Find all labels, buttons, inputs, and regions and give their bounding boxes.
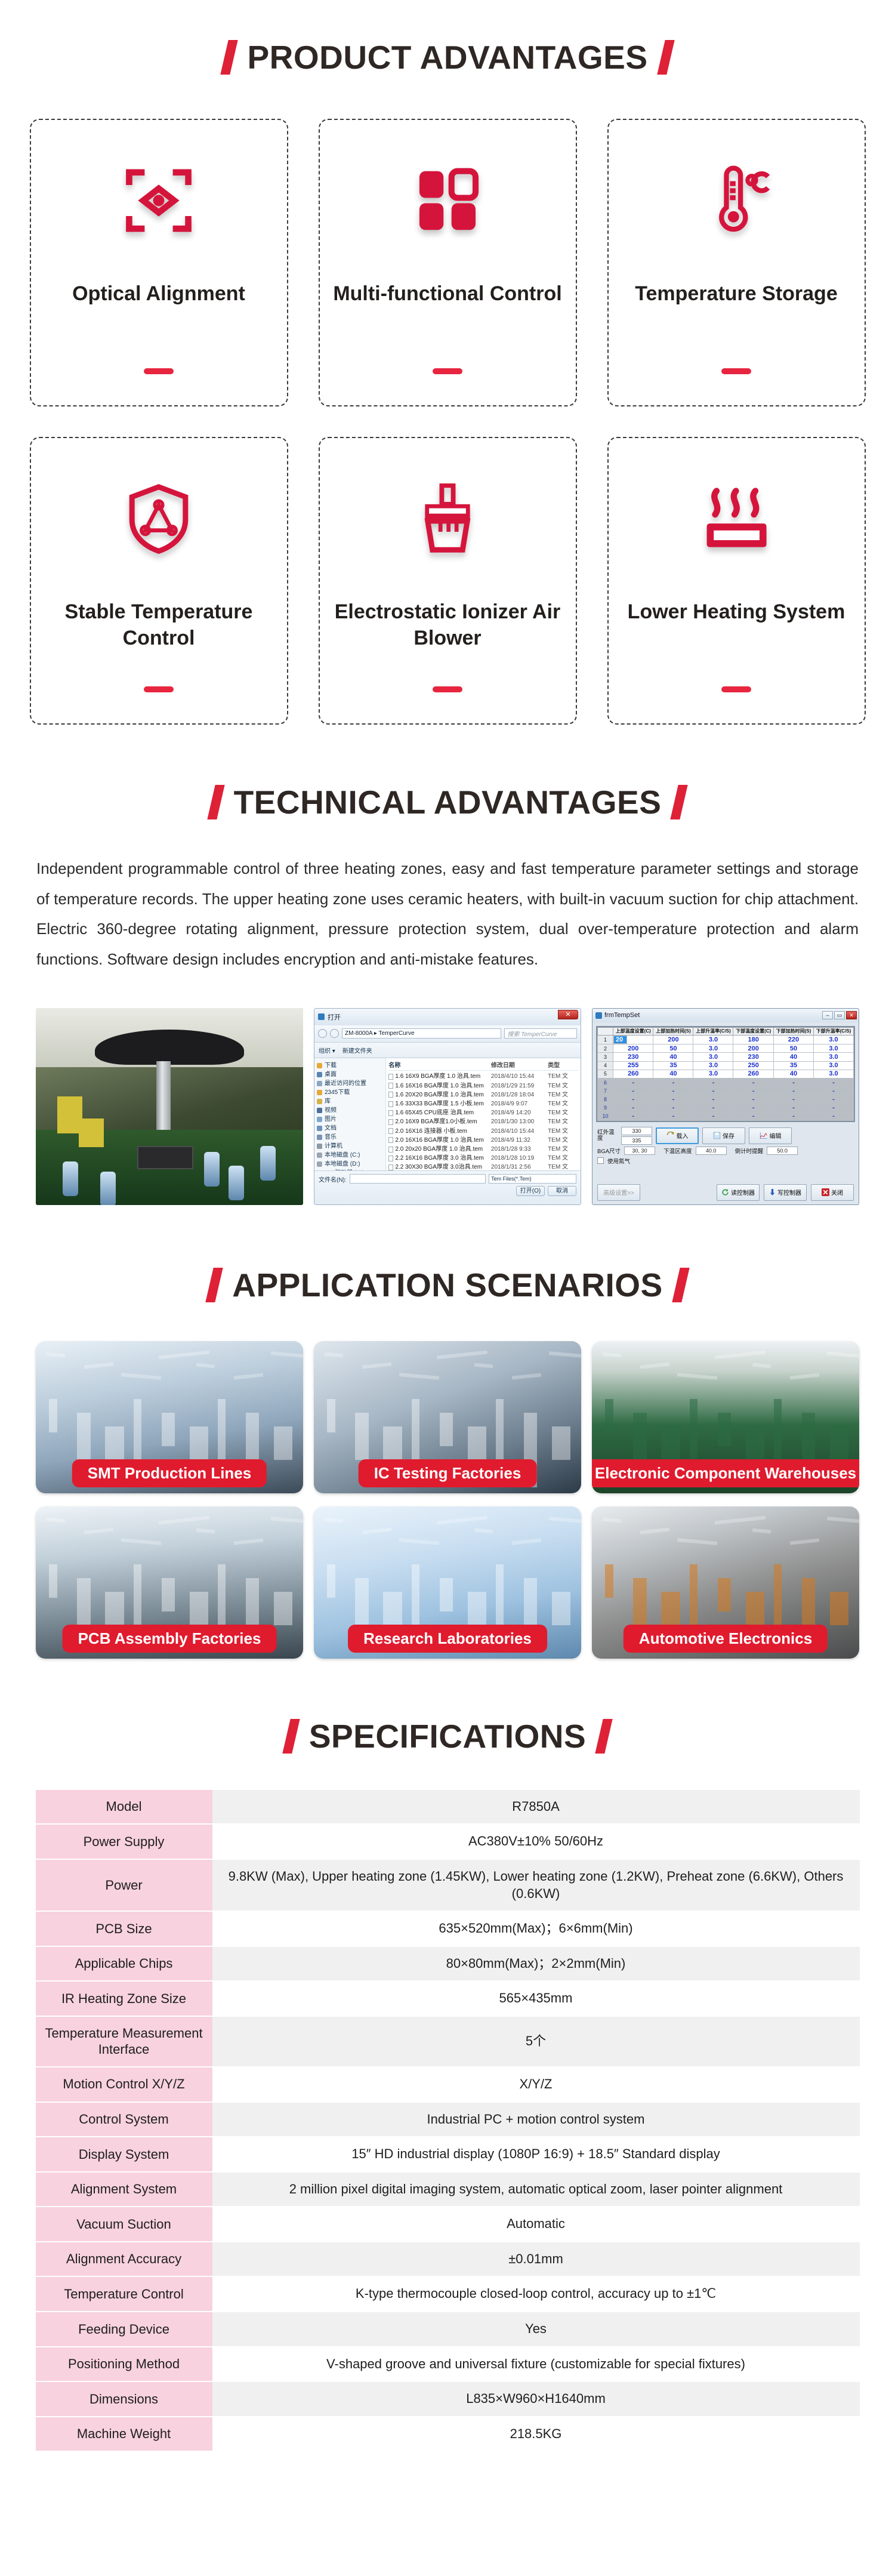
sidebar-item-label: 最近访问的位置 — [325, 1079, 366, 1088]
photo-detail — [84, 1527, 113, 1534]
optical-alignment-icon — [31, 120, 287, 281]
sidebar-item[interactable]: 计算机 — [317, 1142, 383, 1151]
spec-label: Power — [36, 1860, 212, 1911]
photo-detail — [271, 1351, 303, 1358]
photo-detail — [511, 1538, 541, 1545]
photo-detail — [774, 1564, 782, 1625]
file-type: TEM 文 — [548, 1145, 578, 1154]
spec-label: Model — [36, 1790, 212, 1824]
temp-cell[interactable]: - — [733, 1079, 773, 1087]
temp-cell[interactable]: 220 — [773, 1036, 813, 1044]
sidebar-item-label: 库 — [325, 1097, 331, 1106]
forward-icon[interactable] — [330, 1029, 339, 1038]
edit-button[interactable]: 编辑 — [749, 1127, 792, 1144]
photo-detail — [362, 1527, 391, 1534]
temp-cell[interactable]: 3.0 — [693, 1070, 733, 1078]
temp-cell[interactable]: - — [813, 1104, 853, 1112]
photo-detail — [827, 1351, 859, 1358]
multi-function-grid-icon — [320, 120, 576, 281]
sidebar-item[interactable]: 桌面 — [317, 1070, 383, 1079]
file-row[interactable]: 2.0 16X9 BGA厚度1.0小板.tem2018/1/30 13:00TE… — [388, 1117, 578, 1126]
temp-cell[interactable]: - — [813, 1095, 853, 1104]
section-title: PRODUCT ADVANTAGES — [247, 38, 647, 76]
temp-table-row[interactable]: 7------ — [598, 1087, 854, 1095]
temp-cell[interactable]: - — [653, 1104, 693, 1112]
spec-value: 9.8KW (Max), Upper heating zone (1.45KW)… — [212, 1860, 860, 1911]
file-date: 2018/4/10 15:44 — [491, 1127, 548, 1136]
sidebar-item[interactable]: 文档 — [317, 1124, 383, 1133]
sidebar-item-label: 文档 — [325, 1124, 337, 1133]
folder-icon — [317, 1144, 322, 1149]
photo-detail — [774, 1399, 782, 1460]
application-scenario-card[interactable]: Research Laboratories — [314, 1506, 581, 1659]
file-date: 2018/1/28 18:04 — [491, 1090, 548, 1099]
row-index: 3 — [598, 1053, 613, 1061]
temp-table-row[interactable]: 9------ — [598, 1104, 854, 1112]
photo-detail — [274, 1426, 292, 1460]
file-icon — [388, 1155, 393, 1161]
photo-detail — [440, 1413, 453, 1446]
temp-cell[interactable]: - — [813, 1079, 853, 1087]
temp-cell[interactable]: 40 — [773, 1053, 813, 1061]
shield-stability-icon — [31, 438, 287, 599]
close-icon[interactable]: ✕ — [558, 1010, 578, 1019]
temp-cell[interactable]: 50 — [653, 1044, 693, 1053]
advantage-card-multi-functional-control[interactable]: Multi-functional Control — [319, 119, 577, 406]
temp-cell[interactable]: - — [653, 1087, 693, 1095]
temp-cell[interactable]: - — [653, 1112, 693, 1120]
sidebar-item[interactable]: 音乐 — [317, 1133, 383, 1142]
spec-value: Automatic — [212, 2207, 860, 2241]
table-row: IR Heating Zone Size565×435mm — [36, 1982, 860, 2016]
window-icon — [318, 1013, 325, 1020]
temp-cell[interactable]: 35 — [653, 1061, 693, 1070]
temp-cell[interactable]: 230 — [733, 1053, 773, 1061]
temp-cell[interactable]: 180 — [733, 1036, 773, 1044]
application-scenario-card[interactable]: Automotive Electronics — [592, 1506, 859, 1659]
application-scenarios-heading: APPLICATION SCENARIOS — [0, 1266, 895, 1304]
temp-cell[interactable]: - — [733, 1087, 773, 1095]
table-row: ModelR7850A — [36, 1790, 860, 1824]
temp-cell[interactable]: - — [773, 1087, 813, 1095]
spec-value: V-shaped groove and universal fixture (c… — [212, 2347, 860, 2381]
spec-label: IR Heating Zone Size — [36, 1982, 212, 2016]
temp-cell[interactable]: - — [653, 1095, 693, 1104]
section-title: APPLICATION SCENARIOS — [232, 1266, 662, 1304]
application-cards-row-2: PCB Assembly FactoriesResearch Laborator… — [0, 1506, 895, 1659]
photo-detail — [552, 1426, 570, 1460]
slash-left-icon — [221, 40, 238, 75]
photo-detail — [830, 1592, 848, 1625]
temp-cell[interactable]: - — [613, 1104, 653, 1112]
spec-label: Machine Weight — [36, 2417, 212, 2451]
nitrogen-checkbox[interactable] — [597, 1157, 604, 1164]
load-arrow-icon — [666, 1132, 675, 1140]
temp-cell[interactable]: 3.0 — [693, 1053, 733, 1061]
photo-detail — [399, 1373, 439, 1380]
temp-column-header[interactable]: 下部加热时间(S) — [773, 1027, 813, 1035]
spec-value: Yes — [212, 2312, 860, 2346]
photo-detail — [271, 1517, 303, 1524]
photo-detail — [362, 1362, 391, 1369]
sidebar-item[interactable]: 本地磁盘 (D:) — [317, 1160, 383, 1169]
section-title: SPECIFICATIONS — [309, 1717, 586, 1755]
spec-label: Temperature Measurement Interface — [36, 2017, 212, 2066]
temperature-profile-table[interactable]: 上部温度设置(C)上部加热时间(S)上部升温率(C/S)下部温度设置(C)下部加… — [597, 1027, 854, 1121]
minimize-icon[interactable]: – — [822, 1011, 833, 1019]
temp-table-row[interactable]: 4255353.0250353.0 — [598, 1061, 854, 1070]
search-input[interactable]: 搜索 TemperCurve — [504, 1028, 577, 1039]
photo-detail — [355, 1413, 368, 1460]
file-date: 2018/1/31 2:56 — [491, 1163, 548, 1170]
temp-table-row[interactable]: 1202003.01802203.0 — [598, 1036, 854, 1044]
sidebar-item-label: 计算机 — [325, 1142, 342, 1151]
temp-cell[interactable]: - — [653, 1079, 693, 1087]
ir-value-1[interactable]: 330 — [621, 1127, 652, 1135]
write-controller-button[interactable]: 写控制器 — [764, 1184, 807, 1201]
application-scenario-card[interactable]: PCB Assembly Factories — [36, 1506, 303, 1659]
temp-cell[interactable]: 3.0 — [813, 1061, 853, 1070]
photo-detail — [196, 1529, 215, 1534]
file-icon — [388, 1083, 393, 1089]
sidebar-item[interactable]: 库 — [317, 1097, 383, 1106]
file-date: 2018/1/28 10:19 — [491, 1154, 548, 1163]
sidebar-item[interactable]: 图片 — [317, 1115, 383, 1124]
temp-cell[interactable]: - — [733, 1104, 773, 1112]
temp-cell[interactable]: 40 — [773, 1070, 813, 1078]
file-type-select[interactable]: Tem Files(*.Tem) — [489, 1174, 576, 1184]
temp-cell[interactable]: - — [613, 1095, 653, 1104]
photo-detail — [549, 1351, 581, 1358]
column-header-type[interactable]: 类型 — [548, 1060, 578, 1069]
temp-cell[interactable]: 3.0 — [693, 1036, 733, 1044]
column-header-name[interactable]: 名称 — [388, 1060, 491, 1069]
file-type: TEM 文 — [548, 1099, 578, 1108]
spec-label: Feeding Device — [36, 2312, 212, 2346]
spec-value: 5个 — [212, 2017, 860, 2066]
dialog-footer: 文件名(N): Tem Files(*.Tem) 打开(O) 取消 — [314, 1171, 581, 1204]
temp-table-row[interactable]: 5260403.0260403.0 — [598, 1070, 854, 1078]
photo-detail — [605, 1564, 613, 1598]
photo-detail — [77, 1578, 90, 1625]
open-button[interactable]: 打开(O) — [516, 1186, 545, 1196]
spec-value: 2 million pixel digital imaging system, … — [212, 2173, 860, 2207]
temp-cell[interactable]: 3.0 — [693, 1061, 733, 1070]
file-type: TEM 文 — [548, 1136, 578, 1145]
row-index: 4 — [598, 1061, 613, 1070]
spec-label: Alignment System — [36, 2173, 212, 2207]
refresh-icon — [721, 1188, 729, 1196]
sidebar-item-label: 视频 — [325, 1106, 337, 1115]
photo-detail — [233, 1373, 263, 1379]
cancel-button[interactable]: 取消 — [548, 1186, 576, 1196]
table-row: Temperature ControlK-type thermocouple c… — [36, 2277, 860, 2311]
photo-detail — [218, 1564, 226, 1625]
spec-label: Display System — [36, 2137, 212, 2171]
new-folder-button[interactable]: 新建文件夹 — [342, 1046, 372, 1055]
advantage-card-temperature-storage[interactable]: Temperature Storage — [607, 119, 866, 406]
temp-cell[interactable]: 50 — [773, 1044, 813, 1053]
advantage-card-underline — [433, 686, 462, 692]
photo-detail — [121, 1538, 161, 1545]
table-row: Motion Control X/Y/ZX/Y/Z — [36, 2067, 860, 2102]
sidebar-item[interactable]: 下载 — [317, 1061, 383, 1070]
photo-detail — [399, 1538, 439, 1545]
photo-detail — [84, 1362, 113, 1369]
temp-cell[interactable]: 3.0 — [813, 1053, 853, 1061]
file-name: 2.0 20x20 BGA厚度 1.0 治具.tem — [388, 1145, 491, 1154]
photo-detail — [605, 1399, 613, 1432]
temp-cell[interactable]: 255 — [613, 1061, 653, 1070]
ionizer-blower-icon — [320, 438, 576, 599]
temp-cell[interactable]: - — [693, 1087, 733, 1095]
file-row[interactable]: 2.0 16X16 连接器 小板.tem2018/4/10 15:44TEM 文 — [388, 1127, 578, 1136]
temp-cell[interactable]: - — [733, 1095, 773, 1104]
temp-table-row[interactable]: 8------ — [598, 1095, 854, 1104]
folder-icon — [317, 1126, 322, 1131]
file-row[interactable]: 2.0 16X16 BGA厚度 1.0 治具.tem2018/4/9 11:32… — [388, 1136, 578, 1145]
file-type: TEM 文 — [548, 1127, 578, 1136]
row-index: 2 — [598, 1044, 613, 1053]
file-row[interactable]: 2.2 16X16 BGA厚度 3.0 治具.tem2018/1/28 10:1… — [388, 1154, 578, 1163]
temp-cell[interactable]: 35 — [773, 1061, 813, 1070]
temp-cell[interactable]: 250 — [733, 1061, 773, 1070]
save-button[interactable]: 保存 — [702, 1127, 745, 1144]
window-icon — [595, 1012, 602, 1019]
temp-cell[interactable]: 260 — [733, 1070, 773, 1078]
dialog-navigation-bar: ZM-8000A ▸ TemperCurve 搜索 TemperCurve — [314, 1025, 581, 1043]
temp-cell[interactable]: - — [613, 1087, 653, 1095]
technical-advantages-section: TECHNICAL ADVANTAGES Independent program… — [0, 725, 895, 1205]
slash-left-icon — [206, 1268, 223, 1302]
temp-cell[interactable]: - — [773, 1079, 813, 1087]
down-arrow-icon — [769, 1188, 776, 1196]
photo-detail — [496, 1399, 504, 1460]
spec-value: R7850A — [212, 1790, 860, 1824]
temp-cell[interactable]: 20 — [613, 1036, 627, 1044]
spec-value: 218.5KG — [212, 2417, 860, 2451]
file-icon — [388, 1137, 393, 1143]
file-date: 2018/1/30 13:00 — [491, 1117, 548, 1126]
temperature-curve-file-dialog-screenshot: 打开 ✕ ZM-8000A ▸ TemperCurve 搜索 TemperCur… — [314, 1008, 581, 1205]
advanced-settings-button[interactable]: 高级设置>> — [597, 1184, 640, 1201]
temp-cell[interactable]: - — [693, 1079, 733, 1087]
ir-value-2[interactable]: 335 — [621, 1136, 652, 1145]
row-index: 9 — [598, 1104, 613, 1112]
folder-icon — [317, 1161, 322, 1167]
row-index: 8 — [598, 1095, 613, 1104]
table-row: Temperature Measurement Interface5个 — [36, 2017, 860, 2066]
file-row[interactable]: 1.6 33X33 BGA厚度 1.5 小板.tem2018/4/9 9:07T… — [388, 1099, 578, 1108]
file-date: 2018/4/9 11:32 — [491, 1136, 548, 1145]
photo-detail — [474, 1529, 493, 1534]
temp-cell[interactable]: 230 — [613, 1053, 653, 1061]
spec-label: Positioning Method — [36, 2347, 212, 2381]
temp-cell[interactable]: - — [813, 1087, 853, 1095]
file-name: 1.6 65X45 CPU底座 治具.tem — [388, 1108, 491, 1117]
table-row: Display System15″ HD industrial display … — [36, 2137, 860, 2171]
advantage-card-lower-heating-system[interactable]: Lower Heating System — [607, 437, 866, 725]
folder-icon — [317, 1153, 322, 1158]
temp-cell[interactable]: - — [693, 1095, 733, 1104]
breadcrumb[interactable]: ZM-8000A ▸ TemperCurve — [342, 1028, 501, 1039]
temp-cell[interactable]: - — [773, 1095, 813, 1104]
temp-cell[interactable]: 200 — [733, 1044, 773, 1053]
photo-detail — [715, 1516, 766, 1525]
temp-cell[interactable]: - — [693, 1112, 733, 1120]
back-icon[interactable] — [318, 1029, 327, 1038]
sidebar-item[interactable]: 最近访问的位置 — [317, 1079, 383, 1088]
photo-detail — [496, 1564, 504, 1625]
table-row: Positioning MethodV-shaped groove and un… — [36, 2347, 860, 2381]
table-row: Vacuum SuctionAutomatic — [36, 2207, 860, 2241]
temp-cell[interactable]: - — [773, 1112, 813, 1120]
photo-detail — [552, 1592, 570, 1625]
lower-zone-height-input[interactable]: 40.0 — [696, 1147, 727, 1155]
file-type: TEM 文 — [548, 1090, 578, 1099]
sidebar-item-label: 下载 — [325, 1061, 337, 1070]
sidebar-item[interactable]: 本地磁盘 (C:) — [317, 1151, 383, 1160]
organize-button[interactable]: 组织 ▾ — [319, 1046, 335, 1055]
spec-value: X/Y/Z — [212, 2067, 860, 2102]
spec-label: Alignment Accuracy — [36, 2242, 212, 2276]
temp-column-header[interactable]: 上部升温率(C/S) — [693, 1027, 733, 1035]
advantage-card-stable-temperature-control[interactable]: Stable Temperature Control — [30, 437, 288, 725]
file-row[interactable]: 2.2 30X30 BGA厚度 3.0治具.tem2018/1/31 2:56T… — [388, 1163, 578, 1170]
close-icon[interactable]: ✕ — [846, 1011, 857, 1019]
temp-column-header[interactable]: 下部温度设置(C) — [733, 1027, 773, 1035]
file-icon — [388, 1147, 393, 1153]
sidebar-item-label: 音乐 — [325, 1133, 337, 1142]
file-type: TEM 文 — [548, 1072, 578, 1081]
photo-detail — [830, 1426, 848, 1460]
temp-cell[interactable]: 3.0 — [813, 1044, 853, 1053]
temp-cell[interactable]: 260 — [613, 1070, 653, 1078]
file-name: 2.0 16X16 BGA厚度 1.0 治具.tem — [388, 1136, 491, 1145]
spec-value: ±0.01mm — [212, 2242, 860, 2276]
file-row[interactable]: 2.0 20x20 BGA厚度 1.0 治具.tem2018/1/28 9:33… — [388, 1145, 578, 1154]
sidebar-item-label: 本地磁盘 (C:) — [325, 1151, 360, 1160]
file-date: 2018/1/29 21:59 — [491, 1081, 548, 1090]
column-header-date[interactable]: 修改日期 — [491, 1060, 548, 1069]
photo-detail — [47, 1518, 66, 1523]
advantage-card-optical-alignment[interactable]: Optical Alignment — [30, 119, 288, 406]
filename-input[interactable] — [350, 1174, 486, 1184]
countdown-input[interactable]: 50.0 — [767, 1147, 798, 1155]
temp-cell[interactable]: - — [773, 1104, 813, 1112]
read-controller-button[interactable]: 读控制器 — [717, 1184, 760, 1201]
temp-cell[interactable]: - — [613, 1079, 653, 1087]
advantage-card-underline — [721, 686, 751, 692]
temp-cell[interactable]: 200 — [613, 1044, 653, 1053]
temp-cell[interactable]: 3.0 — [813, 1070, 853, 1078]
photo-detail — [789, 1373, 819, 1379]
sidebar-item-label: 桌面 — [325, 1070, 337, 1079]
temp-column-header[interactable]: 上部加热时间(S) — [653, 1027, 693, 1035]
file-name: 2.0 16X9 BGA厚度1.0小板.tem — [388, 1117, 491, 1126]
product-advantages-heading: PRODUCT ADVANTAGES — [0, 38, 895, 76]
file-name: 1.6 16X16 BGA厚度 1.0 治具.tem — [388, 1081, 491, 1090]
application-scenario-card[interactable]: Electronic Component Warehouses — [592, 1341, 859, 1493]
temp-cell[interactable]: 3.0 — [813, 1036, 853, 1044]
temp-cell[interactable]: 3.0 — [693, 1044, 733, 1053]
file-date: 2018/4/10 15:44 — [491, 1072, 548, 1081]
temp-column-header[interactable]: 下部升温率(C/S) — [813, 1027, 853, 1035]
maximize-icon[interactable]: ▭ — [834, 1011, 845, 1019]
sidebar-item[interactable]: 2345下载 — [317, 1088, 383, 1097]
temp-column-header[interactable]: 上部温度设置(C) — [613, 1027, 653, 1035]
temp-table-row[interactable]: 3230403.0230403.0 — [598, 1053, 854, 1061]
scenario-caption: IC Testing Factories — [359, 1459, 537, 1487]
load-button[interactable]: 载入 — [656, 1127, 699, 1144]
file-name: 1.6 16X9 BGA厚度 1.0 治具.tem — [388, 1072, 491, 1081]
file-row[interactable]: 1.6 65X45 CPU底座 治具.tem2018/4/9 14:20TEM … — [388, 1108, 578, 1117]
temp-table-row[interactable]: 2200503.0200503.0 — [598, 1044, 854, 1053]
sidebar-item-label: 2345下载 — [325, 1088, 350, 1097]
table-row: DimensionsL835×W960×H1640mm — [36, 2382, 860, 2416]
dialog-title: 打开 — [328, 1012, 341, 1022]
temp-cell[interactable]: - — [613, 1112, 653, 1120]
slash-right-icon — [657, 40, 674, 75]
temp-cell[interactable]: 40 — [653, 1070, 693, 1078]
application-scenario-card[interactable]: IC Testing Factories — [314, 1341, 581, 1493]
photo-detail — [633, 1413, 646, 1460]
section-title: TECHNICAL ADVANTAGES — [234, 783, 662, 821]
folder-icon — [317, 1063, 322, 1068]
file-type: TEM 文 — [548, 1108, 578, 1117]
sidebar-item[interactable]: 视频 — [317, 1106, 383, 1115]
file-row[interactable]: 1.6 16X9 BGA厚度 1.0 治具.tem2018/4/10 15:44… — [388, 1072, 578, 1081]
application-scenario-card[interactable]: SMT Production Lines — [36, 1341, 303, 1493]
table-row: Feeding DeviceYes — [36, 2312, 860, 2346]
file-row[interactable]: 1.6 20X20 BGA厚度 1.0 治具.tem2018/1/28 18:0… — [388, 1090, 578, 1099]
temp-cell[interactable]: - — [813, 1112, 853, 1120]
temp-table-row[interactable]: 10------ — [598, 1112, 854, 1120]
folder-icon — [317, 1099, 322, 1104]
temp-cell[interactable]: - — [693, 1104, 733, 1112]
photo-detail — [159, 1351, 209, 1360]
temp-cell[interactable]: - — [733, 1112, 773, 1120]
product-advantages-section: PRODUCT ADVANTAGES Optical Alignment — [0, 0, 895, 725]
photo-detail — [233, 1538, 263, 1545]
spec-label: PCB Size — [36, 1912, 212, 1946]
bga-size-input[interactable]: 30, 30 — [624, 1147, 655, 1155]
advantage-card-electrostatic-ionizer-air-blower[interactable]: Electrostatic Ionizer Air Blower — [319, 437, 577, 725]
table-row: PCB Size635×520mm(Max)；6×6mm(Min) — [36, 1912, 860, 1946]
dialog-titlebar: 打开 ✕ — [314, 1009, 581, 1025]
scenario-caption: Automotive Electronics — [624, 1625, 828, 1653]
file-icon — [388, 1164, 393, 1170]
close-icon — [822, 1188, 829, 1196]
floppy-disk-icon — [713, 1132, 721, 1139]
temp-cell[interactable]: 200 — [653, 1036, 693, 1044]
temp-dialog-controls: 红外温度 330 335 载入 保存 编辑 — [592, 1126, 859, 1168]
slash-left-icon — [282, 1719, 300, 1754]
file-row[interactable]: 1.6 16X16 BGA厚度 1.0 治具.tem2018/1/29 21:5… — [388, 1081, 578, 1090]
temp-table-row[interactable]: 6------ — [598, 1079, 854, 1087]
folder-icon — [317, 1117, 322, 1122]
advantage-card-title: Lower Heating System — [609, 599, 865, 625]
table-row: Alignment Accuracy±0.01mm — [36, 2242, 860, 2276]
spec-value: 15″ HD industrial display (1080P 16:9) +… — [212, 2137, 860, 2171]
dialog-sidebar: 下载桌面最近访问的位置2345下载库视频图片文档音乐计算机本地磁盘 (C:)本地… — [314, 1058, 386, 1170]
bga-size-label: BGA尺寸 — [597, 1147, 621, 1155]
photo-detail — [633, 1578, 646, 1625]
spec-value: 565×435mm — [212, 1982, 860, 2016]
close-button[interactable]: 关闭 — [811, 1184, 854, 1201]
folder-icon — [317, 1081, 322, 1086]
temp-cell[interactable]: 40 — [653, 1053, 693, 1061]
